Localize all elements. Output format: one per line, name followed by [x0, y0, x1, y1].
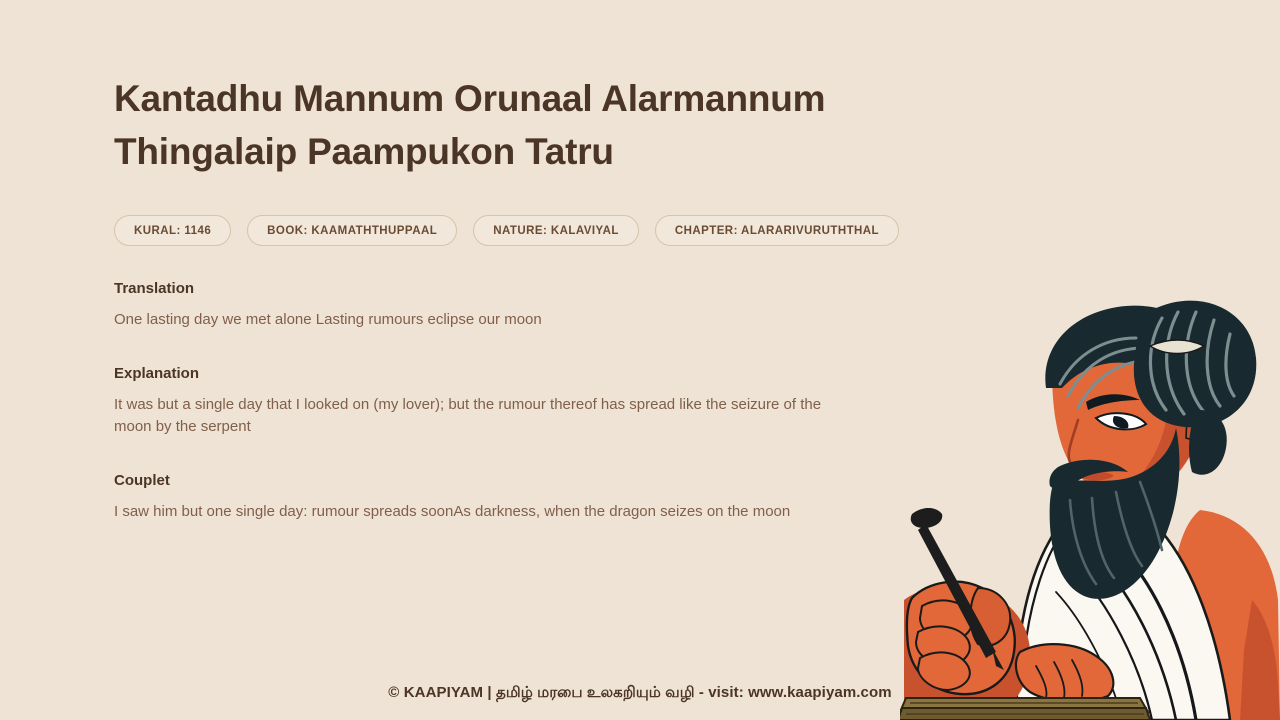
kural-content: Kantadhu Mannum Orunaal Alarmannum Thing…: [114, 72, 914, 523]
metadata-badge-group: KURAL: 1146 BOOK: KAAMATHTHUPPAAL NATURE…: [114, 215, 914, 246]
explanation-heading: Explanation: [114, 365, 914, 382]
pupil: [1113, 416, 1128, 428]
palm-leaf-lines: [906, 703, 1144, 714]
eye: [1096, 413, 1146, 429]
thumb: [971, 588, 1011, 646]
hair-highlights-top: [1060, 338, 1154, 408]
hair-bun: [1134, 301, 1256, 428]
nose: [1069, 420, 1092, 467]
beard: [1050, 428, 1180, 599]
section-couplet: Couplet I saw him but one single day: ru…: [114, 472, 914, 523]
badge-kural-number[interactable]: KURAL: 1146: [114, 215, 231, 246]
hair-top: [1045, 306, 1222, 430]
section-explanation: Explanation It was but a single day that…: [114, 365, 914, 438]
fingers: [916, 600, 972, 690]
section-translation: Translation One lasting day we met alone…: [114, 280, 914, 331]
explanation-text: It was but a single day that I looked on…: [114, 394, 844, 438]
neck: [1090, 439, 1168, 508]
couplet-heading: Couplet: [114, 472, 914, 489]
badge-book[interactable]: BOOK: KAAMATHTHUPPAAL: [247, 215, 457, 246]
hair-band: [1150, 340, 1204, 354]
face: [1052, 308, 1206, 498]
hair-highlights-bun: [1150, 312, 1234, 414]
hair-side: [1189, 410, 1227, 475]
stylus: [911, 508, 1004, 670]
lip: [1078, 472, 1114, 481]
page-title: Kantadhu Mannum Orunaal Alarmannum Thing…: [114, 72, 854, 178]
thiruvalluvar-illustration: [900, 300, 1280, 720]
eyebrow: [1086, 394, 1140, 410]
couplet-text: I saw him but one single day: rumour spr…: [114, 501, 844, 523]
fist: [907, 582, 1015, 695]
palm-leaf-stack: [900, 708, 1150, 720]
badge-nature[interactable]: NATURE: KALAVIYAL: [473, 215, 639, 246]
kural-card-page: Kantadhu Mannum Orunaal Alarmannum Thing…: [0, 0, 1280, 720]
moustache: [1049, 460, 1128, 490]
beard-strands: [1070, 482, 1162, 584]
badge-chapter[interactable]: CHAPTER: ALARARIVURUTHTHAL: [655, 215, 899, 246]
translation-heading: Translation: [114, 280, 914, 297]
footer-credit[interactable]: © KAAPIYAM | தமிழ் மரபை உலகறியும் வழி - …: [0, 684, 1280, 703]
ear: [1186, 395, 1210, 439]
face-shadow: [1122, 320, 1206, 494]
translation-text: One lasting day we met alone Lasting rum…: [114, 309, 844, 331]
